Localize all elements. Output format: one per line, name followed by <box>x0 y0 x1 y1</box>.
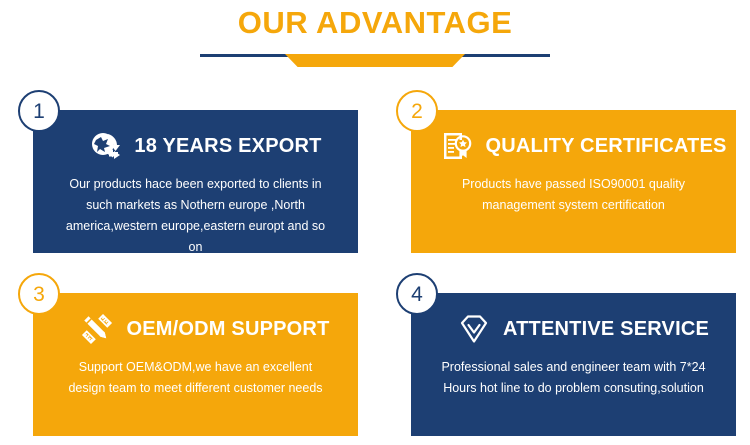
advantage-card-grid: 18 YEARS EXPORT Our products hace been e… <box>0 85 750 445</box>
title-divider <box>200 52 550 72</box>
advantage-card: ATTENTIVE SERVICE Professional sales and… <box>396 273 736 433</box>
advantage-infographic: OUR ADVANTAGE <box>0 0 750 445</box>
advantage-card: 18 YEARS EXPORT Our products hace been e… <box>18 90 358 250</box>
header: OUR ADVANTAGE <box>0 0 750 80</box>
card-body-text: Products have passed ISO90001 quality ma… <box>425 174 722 216</box>
card-number-badge: 1 <box>18 90 60 132</box>
card-number-badge: 3 <box>18 273 60 315</box>
card-header: QUALITY CERTIFICATES <box>425 124 722 168</box>
certificate-award-icon <box>438 128 474 164</box>
card-header: 18 YEARS EXPORT <box>47 124 344 168</box>
card-header: OEM/ODM SUPPORT <box>47 307 344 351</box>
globe-export-icon <box>87 128 123 164</box>
card-number-badge: 2 <box>396 90 438 132</box>
card-body-text: Our products hace been exported to clien… <box>47 174 344 258</box>
divider-ribbon-icon <box>285 54 465 67</box>
card-header: ATTENTIVE SERVICE <box>425 307 722 351</box>
card-panel: 18 YEARS EXPORT Our products hace been e… <box>33 110 358 253</box>
card-panel: OEM/ODM SUPPORT Support OEM&ODM,we have … <box>33 293 358 436</box>
card-panel: ATTENTIVE SERVICE Professional sales and… <box>411 293 736 436</box>
card-title: 18 YEARS EXPORT <box>134 135 321 158</box>
card-number-badge: 4 <box>396 273 438 315</box>
card-body-text: Support OEM&ODM,we have an excellent des… <box>47 357 344 399</box>
card-title: OEM/ODM SUPPORT <box>126 318 329 341</box>
card-title: ATTENTIVE SERVICE <box>503 318 709 341</box>
card-body-text: Professional sales and engineer team wit… <box>425 357 722 399</box>
card-title: QUALITY CERTIFICATES <box>485 135 726 158</box>
advantage-card: OEM/ODM SUPPORT Support OEM&ODM,we have … <box>18 273 358 433</box>
shield-check-icon <box>456 311 492 347</box>
pencil-ruler-design-icon <box>79 311 115 347</box>
advantage-card: QUALITY CERTIFICATES Products have passe… <box>396 90 736 250</box>
card-panel: QUALITY CERTIFICATES Products have passe… <box>411 110 736 253</box>
page-title: OUR ADVANTAGE <box>0 4 750 42</box>
